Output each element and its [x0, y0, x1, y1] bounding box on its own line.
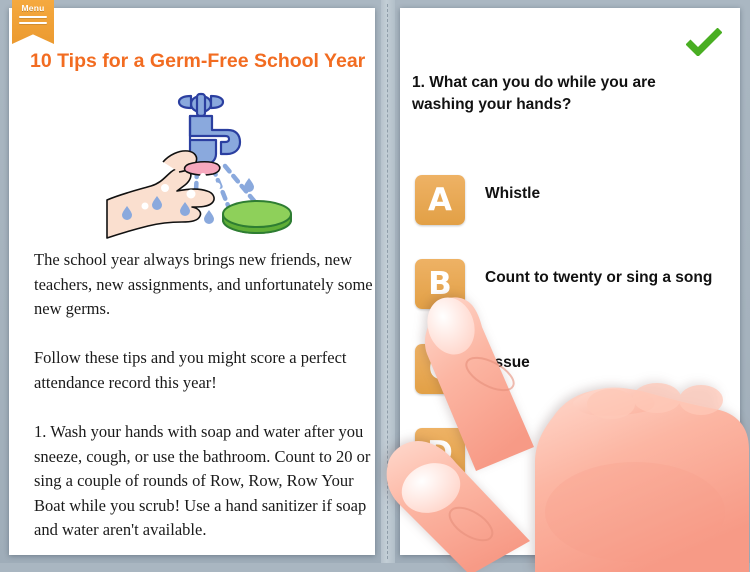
option-label-a: Whistle — [485, 183, 725, 204]
hamburger-icon — [19, 16, 47, 28]
option-letter-c: C — [415, 344, 465, 394]
option-label-c: tissue — [485, 352, 725, 373]
option-letter-tile-a: A — [415, 175, 465, 225]
option-letter-b: B — [415, 259, 465, 309]
quiz-option-c[interactable]: C tissue — [415, 344, 725, 400]
green-checkmark-icon — [686, 28, 722, 56]
book-reader-app: 10 Tips for a Germ-Free School Year — [0, 0, 750, 563]
option-letter-tile-c: C — [415, 344, 465, 394]
article-paragraph-2: Follow these tips and you might score a … — [34, 346, 380, 395]
quiz-option-b[interactable]: B Count to twenty or sing a song — [415, 259, 725, 315]
option-letter-d: D — [415, 428, 465, 478]
option-letter-tile-d: D — [415, 428, 465, 478]
option-letter-a: A — [415, 175, 465, 225]
quiz-question: 1. What can you do while you are washing… — [412, 72, 712, 116]
book-spine — [381, 0, 395, 563]
article-paragraph-1: The school year always brings new friend… — [34, 248, 380, 322]
quiz-option-a[interactable]: A Whistle — [415, 175, 725, 231]
page-title: 10 Tips for a Germ-Free School Year — [30, 50, 380, 72]
option-letter-tile-b: B — [415, 259, 465, 309]
menu-label: Menu — [12, 0, 54, 13]
handwashing-illustration — [105, 90, 297, 240]
quiz-option-d[interactable]: D St — [415, 428, 725, 484]
article-paragraph-3: 1. Wash your hands with soap and water a… — [34, 420, 380, 543]
option-label-d: St — [485, 436, 725, 457]
left-page: 10 Tips for a Germ-Free School Year — [9, 8, 375, 555]
option-label-b: Count to twenty or sing a song — [485, 267, 725, 288]
